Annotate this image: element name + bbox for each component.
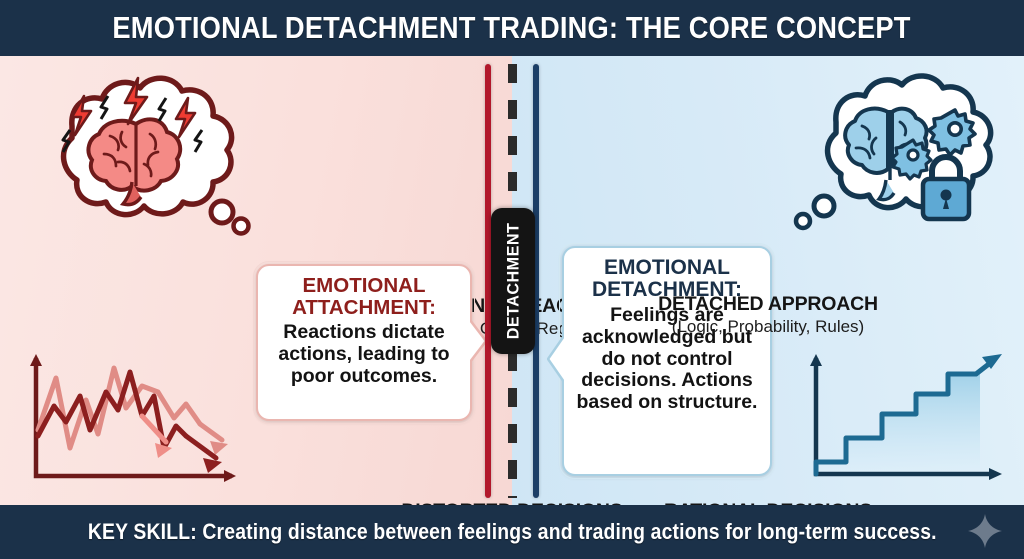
- detached-approach-caption: DETACHED APPROACH (Logic, Probability, R…: [512, 293, 1024, 337]
- callout-body: Reactions dictate actions, leading to po…: [268, 322, 460, 387]
- caption-sub: (Logic, Probability, Rules): [512, 317, 1024, 337]
- footer-bar: KEY SKILL: Creating distance between fee…: [0, 505, 1024, 559]
- header-bar: EMOTIONAL DETACHMENT TRADING: THE CORE C…: [0, 0, 1024, 56]
- rising-staircase-chart-icon: [790, 352, 1016, 498]
- emotional-detachment-callout: EMOTIONAL DETACHMENT: Feelings are ackno…: [562, 246, 772, 476]
- content-stage: EMOTIONAL REACTIONS (Fear, Greed, Regret…: [0, 56, 1024, 505]
- volatile-declining-chart-icon: [14, 352, 254, 498]
- brain-lightning-cloud-icon: [26, 68, 258, 238]
- footer-key-skill-text: KEY SKILL: Creating distance between fee…: [88, 519, 937, 545]
- emotional-attachment-callout: EMOTIONAL ATTACHMENT: Reactions dictate …: [256, 264, 472, 421]
- infographic-root: EMOTIONAL DETACHMENT TRADING: THE CORE C…: [0, 0, 1024, 559]
- detachment-divider: DETACHMENT: [470, 56, 554, 505]
- callout-title: EMOTIONAL ATTACHMENT:: [268, 275, 460, 319]
- caption-main: DETACHED APPROACH: [512, 293, 1024, 316]
- brain-gears-lock-cloud-icon: [790, 66, 1016, 234]
- sparkle-icon: [968, 514, 1002, 548]
- callout-pointer-left-icon: [547, 336, 564, 382]
- page-title: EMOTIONAL DETACHMENT TRADING: THE CORE C…: [113, 10, 911, 46]
